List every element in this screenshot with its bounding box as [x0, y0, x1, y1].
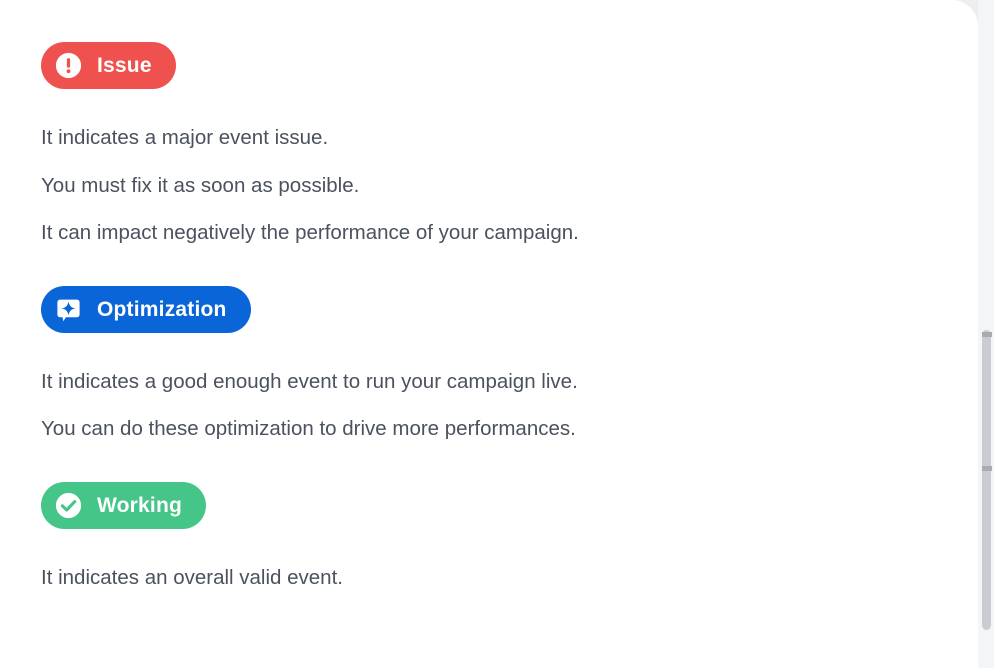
sparkle-bubble-icon	[54, 295, 83, 324]
badge-optimization-label: Optimization	[97, 299, 227, 320]
issue-line-3: It can impact negatively the performance…	[41, 223, 958, 244]
badge-working[interactable]: Working	[41, 482, 206, 529]
issue-line-2: You must fix it as soon as possible.	[41, 176, 958, 197]
working-description: It indicates an overall valid event.	[41, 568, 958, 589]
optimization-line-2: You can do these optimization to drive m…	[41, 419, 958, 440]
legend-content: Issue It indicates a major event issue. …	[41, 42, 958, 588]
check-circle-icon	[54, 491, 83, 520]
legend-panel: Issue It indicates a major event issue. …	[0, 0, 978, 668]
working-line-1: It indicates an overall valid event.	[41, 568, 958, 589]
issue-line-1: It indicates a major event issue.	[41, 128, 958, 149]
scrollbar-tick	[982, 332, 992, 337]
badge-optimization[interactable]: Optimization	[41, 286, 251, 333]
vertical-scrollbar-thumb[interactable]	[982, 330, 991, 630]
badge-issue-label: Issue	[97, 55, 152, 76]
optimization-line-1: It indicates a good enough event to run …	[41, 372, 958, 393]
badge-issue[interactable]: Issue	[41, 42, 176, 89]
issue-description: It indicates a major event issue. You mu…	[41, 128, 958, 244]
optimization-description: It indicates a good enough event to run …	[41, 372, 958, 440]
badge-working-label: Working	[97, 495, 182, 516]
vertical-scrollbar-track[interactable]	[978, 0, 994, 668]
scrollbar-tick	[982, 466, 992, 471]
exclamation-circle-icon	[54, 51, 83, 80]
